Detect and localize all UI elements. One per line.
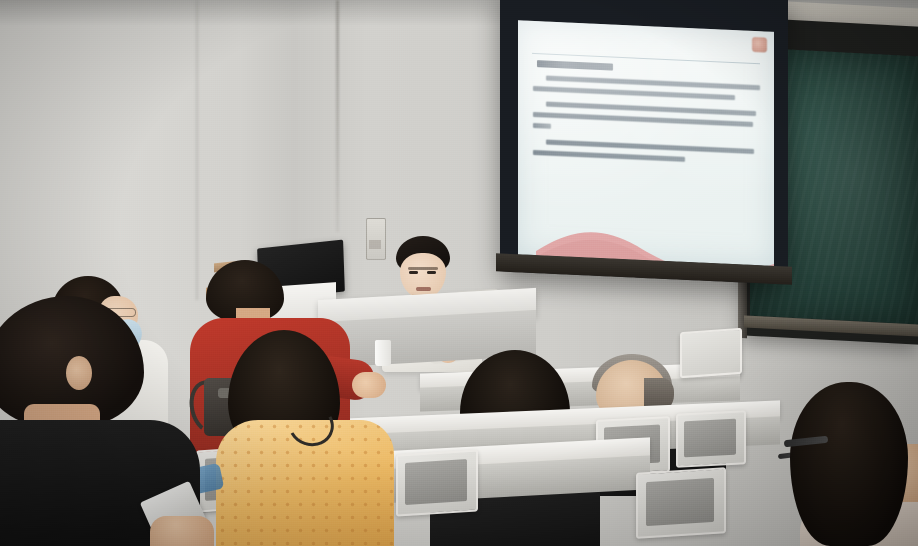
slide-logo-emblem — [752, 37, 767, 53]
red-shirt-person-hand — [352, 372, 386, 398]
wall-column-edge — [196, 0, 198, 300]
presenter-eye-right — [427, 271, 436, 274]
hand-holding-phone — [150, 516, 214, 546]
seat-back — [680, 328, 742, 378]
slide-body-line — [533, 123, 551, 129]
presenter-mouth — [416, 287, 431, 291]
foreground-person-ear — [66, 356, 92, 390]
seat-pad — [646, 478, 714, 526]
seat-pad — [684, 419, 736, 458]
presenter-eye-left — [409, 271, 418, 274]
projection-screen — [500, 0, 788, 291]
paper-cup — [375, 340, 391, 366]
photo-scene: Classroom lecture with projected slide p… — [0, 0, 918, 546]
long-hair-woman-hair — [790, 382, 908, 546]
presenter-brow — [408, 267, 438, 270]
presenter-face — [400, 253, 446, 299]
seat-pad — [405, 459, 467, 505]
wall-panel-seam — [336, 0, 339, 232]
